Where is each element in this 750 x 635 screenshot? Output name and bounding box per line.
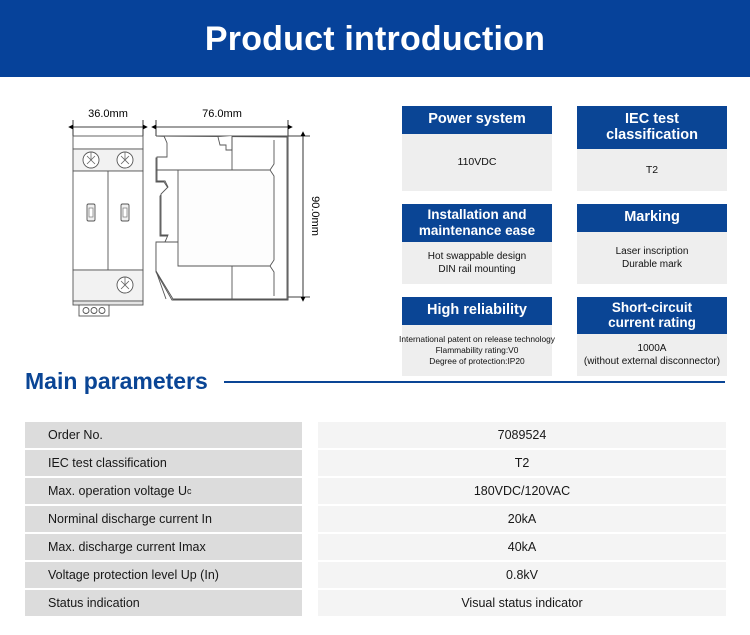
feature-box-marking: Marking Laser inscription Durable mark [577, 204, 727, 283]
column-gap [302, 590, 318, 616]
param-label-text: Max. operation voltage U [48, 484, 187, 498]
feature-title-line: Installation and [404, 207, 550, 222]
page-header-banner: Product introduction [0, 0, 750, 77]
feature-title-line: Short-circuit [579, 300, 725, 315]
feature-body-installation-maintenance: Hot swappable design DIN rail mounting [402, 242, 552, 284]
param-label: Norminal discharge current In [25, 506, 302, 532]
table-row: Max. operation voltage Uc 180VDC/120VAC [25, 478, 726, 504]
param-value: 180VDC/120VAC [318, 478, 726, 504]
dim-label-front-width: 36.0mm [88, 108, 128, 120]
param-value: 40kA [318, 534, 726, 560]
feature-box-grid: Power system 110VDC IEC test classificat… [402, 106, 727, 389]
feature-title-power-system: Power system [402, 106, 552, 134]
feature-line: Degree of protection:IP20 [429, 356, 524, 367]
feature-row-1: Power system 110VDC IEC test classificat… [402, 106, 727, 191]
section-title: Main parameters [25, 368, 208, 395]
feature-line: Hot swappable design [428, 250, 526, 263]
param-label: Voltage protection level Up (In) [25, 562, 302, 588]
feature-title-iec-test-classification: IEC test classification [577, 106, 727, 149]
param-label-subscript: c [187, 486, 192, 496]
feature-box-high-reliability: High reliability International patent on… [402, 297, 552, 376]
table-row: Status indication Visual status indicato… [25, 590, 726, 616]
param-label: Max. operation voltage Uc [25, 478, 302, 504]
feature-row-2: Installation and maintenance ease Hot sw… [402, 204, 727, 283]
product-dimension-drawing: 36.0mm 76.0mm 90.0mm [60, 100, 330, 325]
feature-line: 1000A [638, 342, 667, 355]
page-title: Product introduction [205, 22, 545, 56]
feature-line: DIN rail mounting [438, 263, 515, 276]
table-row: Order No. 7089524 [25, 422, 726, 448]
table-row: IEC test classification T2 [25, 450, 726, 476]
section-divider [224, 381, 725, 383]
column-gap [302, 478, 318, 504]
feature-body-iec-test-classification: T2 [577, 149, 727, 191]
param-value: 0.8kV [318, 562, 726, 588]
feature-title-line: current rating [579, 315, 725, 330]
param-label: Order No. [25, 422, 302, 448]
param-value: Visual status indicator [318, 590, 726, 616]
column-gap [302, 562, 318, 588]
dim-label-height: 90.0mm [309, 196, 321, 236]
feature-title-installation-maintenance: Installation and maintenance ease [402, 204, 552, 241]
column-gap [302, 506, 318, 532]
param-label: Status indication [25, 590, 302, 616]
feature-box-power-system: Power system 110VDC [402, 106, 552, 191]
table-row: Max. discharge current Imax 40kA [25, 534, 726, 560]
param-value: T2 [318, 450, 726, 476]
feature-title-marking: Marking [577, 204, 727, 232]
main-parameters-heading: Main parameters [25, 368, 725, 395]
feature-body-power-system: 110VDC [402, 134, 552, 191]
feature-box-iec-test-classification: IEC test classification T2 [577, 106, 727, 191]
param-value: 20kA [318, 506, 726, 532]
feature-title-line: maintenance ease [404, 223, 550, 238]
table-row: Voltage protection level Up (In) 0.8kV [25, 562, 726, 588]
param-label: Max. discharge current Imax [25, 534, 302, 560]
feature-line: Laser inscription [616, 245, 689, 258]
feature-line: International patent on release technolo… [399, 334, 555, 345]
feature-box-short-circuit-current-rating: Short-circuit current rating 1000A (with… [577, 297, 727, 376]
feature-row-3: High reliability International patent on… [402, 297, 727, 376]
feature-line: Durable mark [622, 258, 682, 271]
param-label: IEC test classification [25, 450, 302, 476]
feature-line: T2 [646, 164, 658, 177]
column-gap [302, 450, 318, 476]
main-parameters-table: Order No. 7089524 IEC test classificatio… [25, 422, 726, 618]
feature-line: 110VDC [458, 156, 497, 169]
feature-title-short-circuit-current-rating: Short-circuit current rating [577, 297, 727, 334]
feature-box-installation-maintenance: Installation and maintenance ease Hot sw… [402, 204, 552, 283]
column-gap [302, 534, 318, 560]
feature-line: (without external disconnector) [584, 355, 720, 368]
table-row: Norminal discharge current In 20kA [25, 506, 726, 532]
param-value: 7089524 [318, 422, 726, 448]
dim-label-side-width: 76.0mm [202, 108, 242, 120]
feature-line: Flammability rating:V0 [436, 345, 519, 356]
column-gap [302, 422, 318, 448]
feature-body-marking: Laser inscription Durable mark [577, 232, 727, 283]
feature-title-high-reliability: High reliability [402, 297, 552, 325]
